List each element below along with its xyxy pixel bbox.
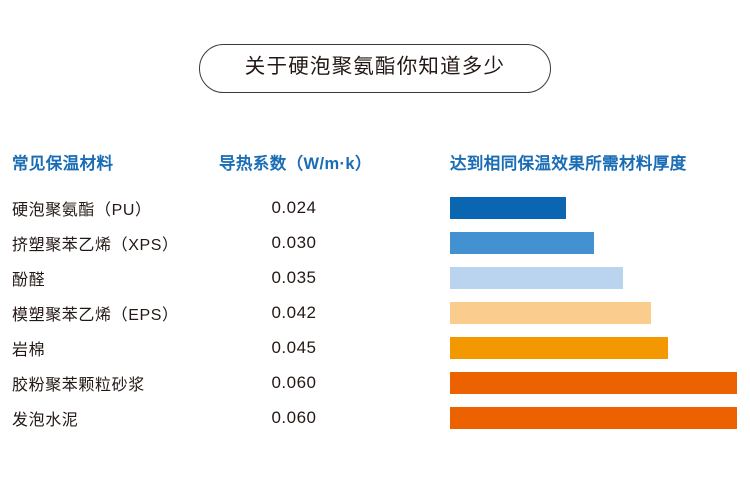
table-row: 胶粉聚苯颗粒砂浆0.060 <box>0 365 750 400</box>
thickness-bar <box>450 267 623 289</box>
thickness-bar-cell <box>450 190 750 225</box>
thickness-bar <box>450 232 594 254</box>
thickness-bar-cell <box>450 365 750 400</box>
thickness-bar <box>450 407 737 429</box>
table-row: 挤塑聚苯乙烯（XPS）0.030 <box>0 225 750 260</box>
thickness-bar <box>450 197 566 219</box>
thickness-bar <box>450 302 651 324</box>
thickness-bar <box>450 337 668 359</box>
table-row: 模塑聚苯乙烯（EPS）0.042 <box>0 295 750 330</box>
conductivity-value: 0.035 <box>219 260 369 295</box>
conductivity-value: 0.060 <box>219 365 369 400</box>
conductivity-value: 0.042 <box>219 295 369 330</box>
table-row: 发泡水泥0.060 <box>0 400 750 435</box>
title-banner: 关于硬泡聚氨酯你知道多少 <box>0 44 750 93</box>
page-title: 关于硬泡聚氨酯你知道多少 <box>199 44 551 93</box>
table-header-row: 常见保温材料 导热系数（W/m·k） 达到相同保温效果所需材料厚度 <box>0 150 750 186</box>
thickness-bar-cell <box>450 225 750 260</box>
thickness-bar-cell <box>450 295 750 330</box>
infographic-page: { "title": "关于硬泡聚氨酯你知道多少", "columns": { … <box>0 0 750 488</box>
material-name: 模塑聚苯乙烯（EPS） <box>12 295 179 330</box>
conductivity-value: 0.030 <box>219 225 369 260</box>
column-header-conductivity: 导热系数（W/m·k） <box>219 150 372 174</box>
conductivity-value: 0.024 <box>219 190 369 225</box>
material-name: 岩棉 <box>12 330 45 365</box>
material-name: 硬泡聚氨酯（PU） <box>12 190 152 225</box>
material-name: 发泡水泥 <box>12 400 78 435</box>
thickness-bar-cell <box>450 260 750 295</box>
table-row: 酚醛0.035 <box>0 260 750 295</box>
column-header-material: 常见保温材料 <box>12 150 113 174</box>
thickness-bar-cell <box>450 400 750 435</box>
materials-comparison-table: 常见保温材料 导热系数（W/m·k） 达到相同保温效果所需材料厚度 硬泡聚氨酯（… <box>0 150 750 435</box>
table-row: 岩棉0.045 <box>0 330 750 365</box>
conductivity-value: 0.045 <box>219 330 369 365</box>
material-name: 胶粉聚苯颗粒砂浆 <box>12 365 145 400</box>
table-body: 硬泡聚氨酯（PU）0.024挤塑聚苯乙烯（XPS）0.030酚醛0.035模塑聚… <box>0 190 750 435</box>
thickness-bar <box>450 372 737 394</box>
material-name: 挤塑聚苯乙烯（XPS） <box>12 225 179 260</box>
material-name: 酚醛 <box>12 260 45 295</box>
conductivity-value: 0.060 <box>219 400 369 435</box>
thickness-bar-cell <box>450 330 750 365</box>
table-row: 硬泡聚氨酯（PU）0.024 <box>0 190 750 225</box>
column-header-thickness: 达到相同保温效果所需材料厚度 <box>450 150 687 174</box>
